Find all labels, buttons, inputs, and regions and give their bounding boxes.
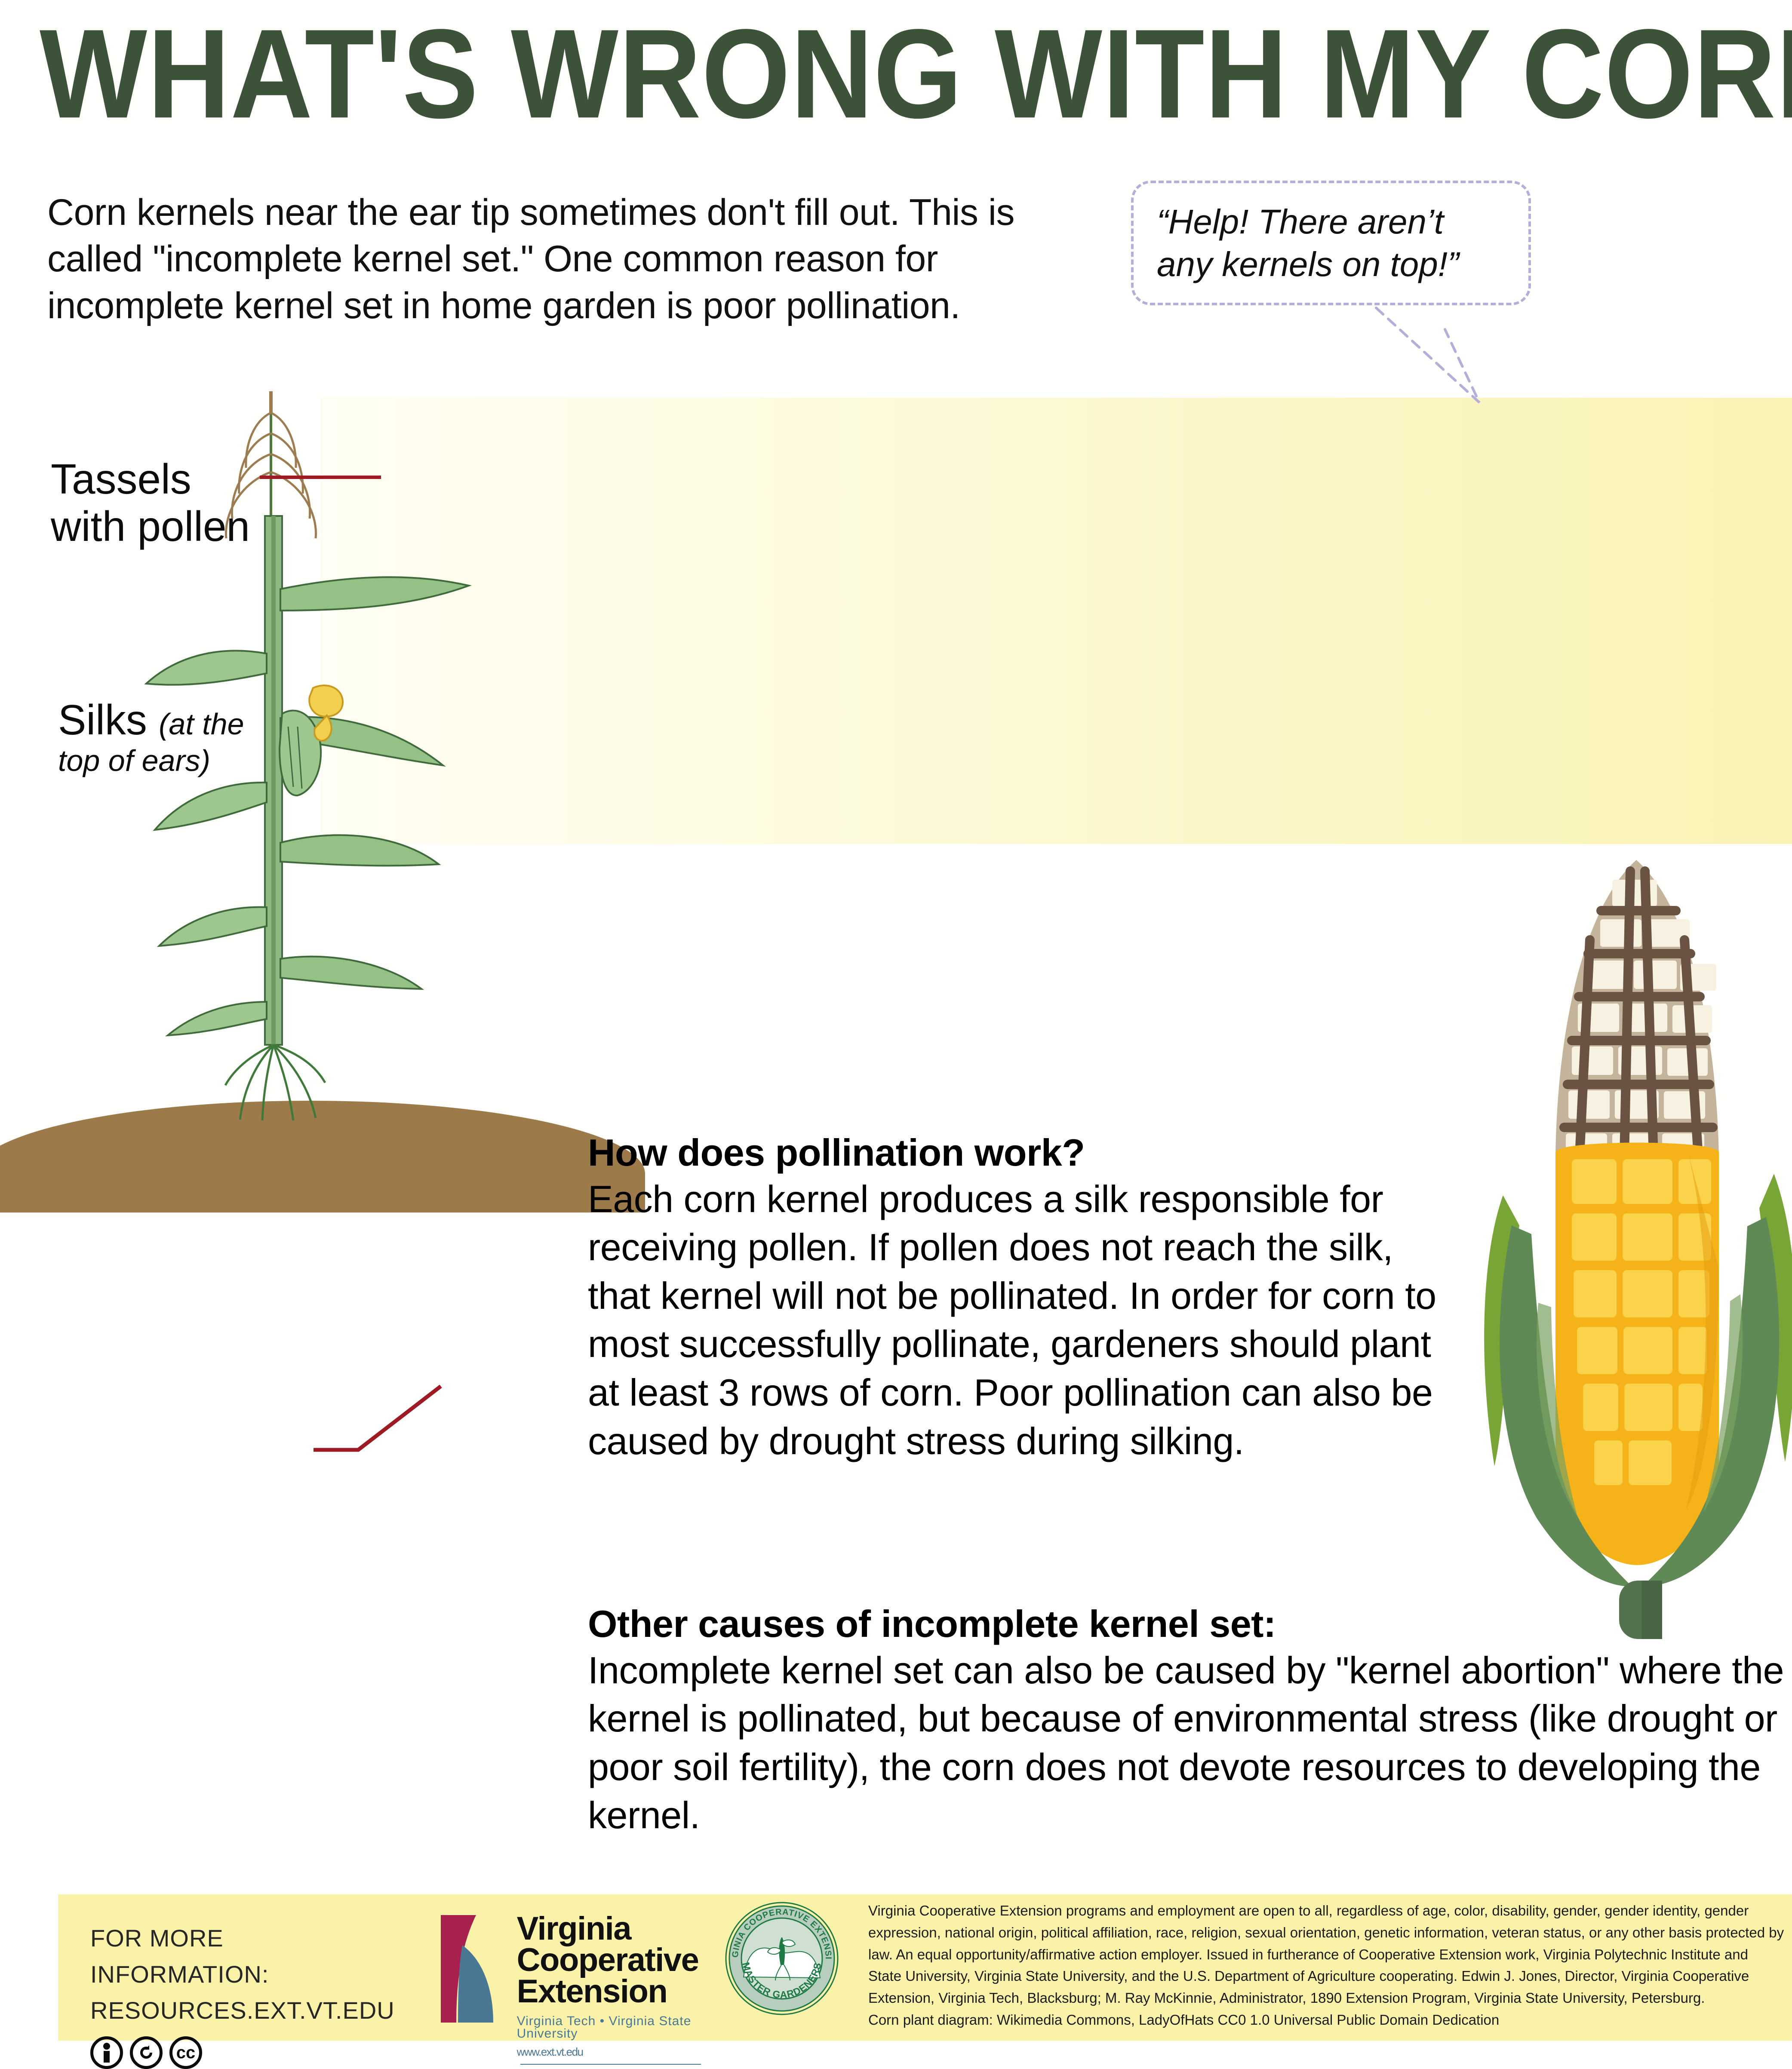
speech-bubble-tail-icon	[1372, 304, 1552, 433]
footer-more-info: FOR MORE INFORMATION: RESOURCES.EXT.VT.E…	[90, 1920, 395, 2069]
vce-logo-line3: Extension	[517, 1976, 718, 2008]
section-other-causes-heading: Other causes of incomplete kernel set:	[588, 1603, 1792, 1645]
label-tassels-line1: Tassels	[51, 456, 250, 503]
footer-disclaimer: Virginia Cooperative Extension programs …	[868, 1900, 1792, 2032]
page-title: WHAT'S WRONG WITH MY CORN?	[40, 18, 1792, 130]
cc-share-alike-icon	[130, 2036, 163, 2069]
leader-line-tassels	[258, 469, 383, 486]
vce-logo-url[interactable]: www.ext.vt.edu	[517, 2045, 583, 2058]
more-info-label: FOR MORE INFORMATION:	[90, 1920, 395, 1992]
label-silks-paren2: top of ears)	[58, 744, 244, 777]
section-other-causes: Other causes of incomplete kernel set: I…	[588, 1603, 1792, 1840]
disclaimer-line-6: Corn plant diagram: Wikimedia Commons, L…	[868, 2010, 1792, 2031]
leader-line-silks	[312, 1380, 449, 1466]
vce-logo-rule	[520, 2064, 701, 2065]
disclaimer-line-5: Extension, Virginia Tech, Blacksburg; M.…	[868, 1988, 1792, 2009]
cc-license-badges: cc	[90, 2036, 395, 2069]
section-pollination-heading: How does pollination work?	[588, 1132, 1448, 1174]
cc-logo-icon: cc	[169, 2036, 202, 2069]
disclaimer-line-3: law. An equal opportunity/affirmative ac…	[868, 1944, 1792, 1965]
section-pollination-body: Each corn kernel produces a silk respons…	[588, 1175, 1448, 1466]
vce-logo-line2: Cooperative	[517, 1945, 718, 1976]
label-silks-main: Silks	[58, 696, 147, 743]
corn-ear-illustration	[1430, 856, 1792, 1711]
virginia-cooperative-extension-logo: Virginia Cooperative Extension Virginia …	[436, 1913, 718, 2068]
cc-by-person-icon	[90, 2036, 123, 2069]
label-silks: Silks (at the top of ears)	[58, 697, 244, 777]
vce-logo-mark-icon	[436, 1913, 506, 2024]
more-info-url[interactable]: RESOURCES.EXT.VT.EDU	[90, 1992, 395, 2029]
master-gardeners-seal: VIRGINIA COOPERATIVE EXTENSION MASTER GA…	[724, 1900, 840, 2017]
section-pollination: How does pollination work? Each corn ker…	[588, 1132, 1448, 1465]
vce-logo-wordmark: Virginia Cooperative Extension Virginia …	[517, 1913, 718, 2068]
vce-logo-subline: Virginia Tech • Virginia State Universit…	[517, 2015, 718, 2040]
label-tassels-line2: with pollen	[51, 503, 250, 550]
vce-logo-line1: Virginia	[517, 1913, 718, 1945]
disclaimer-line-1: Virginia Cooperative Extension programs …	[868, 1900, 1792, 1922]
cc-logo-text: cc	[176, 2043, 196, 2063]
roots-icon	[225, 1045, 325, 1120]
speech-bubble-text: “Help! There aren’t any kernels on top!”	[1131, 181, 1531, 305]
disclaimer-line-2: expression, national origin, political a…	[868, 1922, 1792, 1943]
disclaimer-line-4: State University, Virginia State Univers…	[868, 1966, 1792, 1987]
kernel-body	[1555, 1143, 1719, 1566]
speech-bubble: “Help! There aren’t any kernels on top!”	[1131, 181, 1531, 305]
bare-cob-tip	[1555, 860, 1719, 1157]
section-other-causes-body: Incomplete kernel set can also be caused…	[588, 1646, 1792, 1840]
intro-paragraph: Corn kernels near the ear tip sometimes …	[47, 189, 1105, 329]
label-silks-paren1: (at the	[159, 707, 244, 741]
label-tassels: Tassels with pollen	[51, 456, 250, 550]
